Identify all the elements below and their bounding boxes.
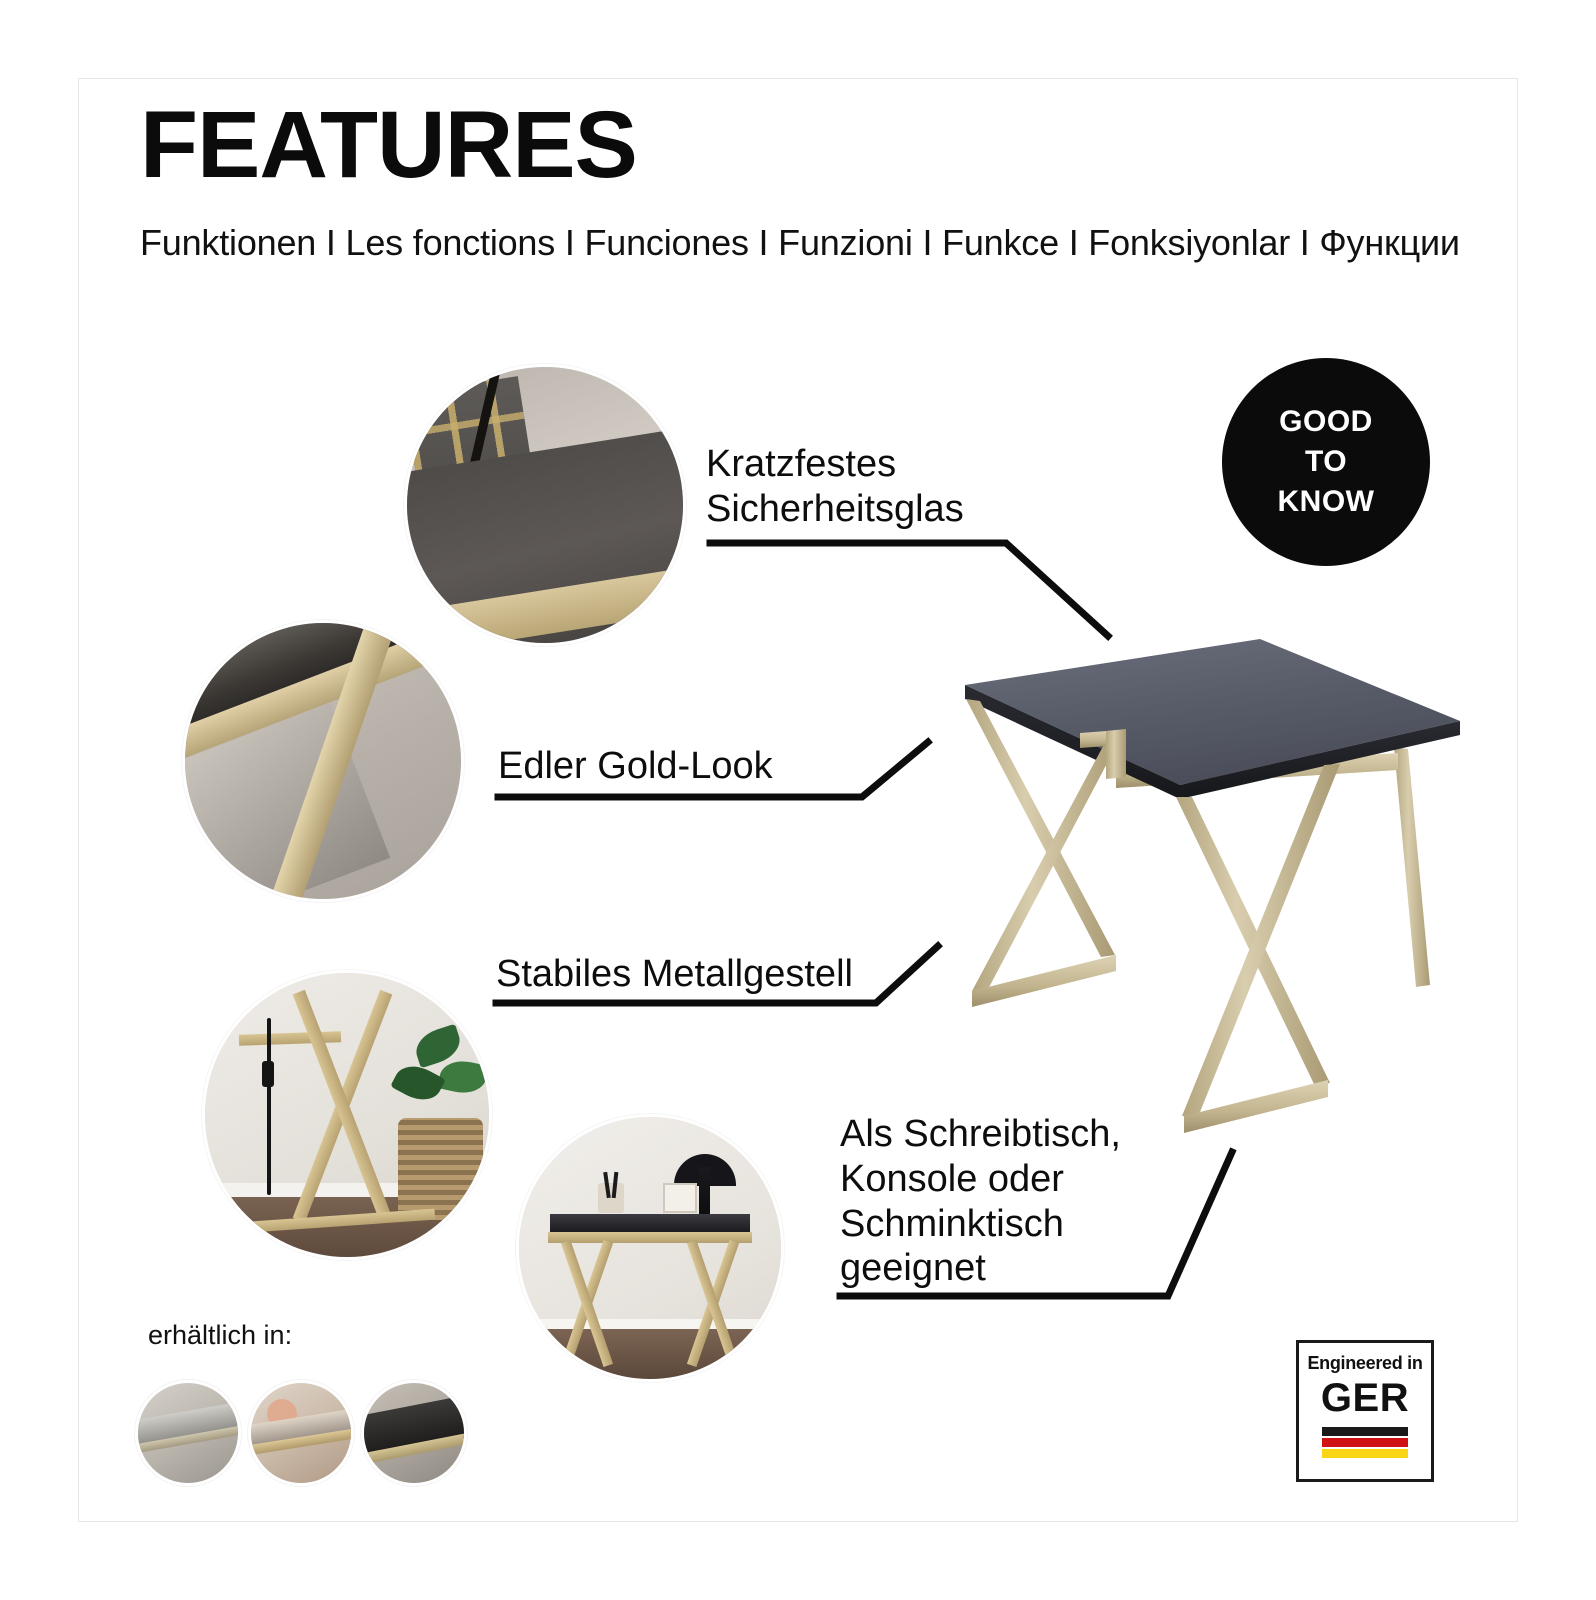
callout-metal-line-1: Stabiles Metallgestell (496, 952, 853, 997)
german-flag-icon (1322, 1427, 1408, 1458)
callout-usage-line-4: geeignet (840, 1246, 1121, 1291)
page-subtitle-multilingual: Funktionen I Les fonctions I Funciones I… (140, 222, 1460, 264)
desk-leg-front-left (966, 699, 1122, 1007)
callout-scratch-resistant-glass: Kratzfestes Sicherheitsglas (706, 442, 964, 532)
callout-gold-look: Edler Gold-Look (498, 744, 773, 789)
photo-gold-frame-detail (182, 620, 464, 902)
product-illustration-desk (930, 625, 1470, 1165)
photo-room-scene (519, 1117, 781, 1379)
photo-room-picture-frame (663, 1183, 697, 1213)
desk-glass-top (965, 639, 1460, 799)
desk-leg-front-right (1176, 764, 1340, 1133)
infographic-canvas: FEATURES Funktionen I Les fonctions I Fu… (0, 0, 1596, 1600)
photo-xleg-power-cord (267, 1018, 271, 1194)
good-to-know-line-1: GOOD (1279, 407, 1373, 437)
leader-line-glass (710, 543, 1108, 636)
callout-stable-metal-frame: Stabiles Metallgestell (496, 952, 853, 997)
color-swatch-clear-glass[interactable] (135, 1380, 241, 1486)
photo-glass-scene (407, 367, 683, 643)
engineered-country-text: GER (1321, 1378, 1409, 1418)
flag-stripe-gold (1322, 1449, 1408, 1458)
photo-gold-scene (185, 623, 461, 899)
flag-stripe-black (1322, 1427, 1408, 1436)
photo-xleg-scene (205, 973, 489, 1257)
callout-glass-line-1: Kratzfestes (706, 442, 964, 487)
color-swatch-bronze-glass[interactable] (248, 1380, 354, 1486)
engineered-in-text: Engineered in (1307, 1354, 1422, 1372)
callout-glass-line-2: Sicherheitsglas (706, 487, 964, 532)
page-title: FEATURES (140, 98, 637, 193)
photo-scratch-resistant-glass (404, 364, 686, 646)
photo-x-metal-frame (202, 970, 492, 1260)
callout-usage-line-3: Schminktisch (840, 1202, 1121, 1247)
good-to-know-line-2: TO (1305, 447, 1347, 477)
available-in-label: erhältlich in: (148, 1320, 292, 1351)
photo-room-skirting-board (519, 1319, 781, 1329)
flag-stripe-red (1322, 1438, 1408, 1447)
callout-gold-line-1: Edler Gold-Look (498, 744, 773, 789)
engineered-in-germany-badge: Engineered in GER (1296, 1340, 1434, 1482)
good-to-know-badge: GOOD TO KNOW (1222, 358, 1430, 566)
desk-center-bracket (1106, 729, 1126, 779)
photo-xleg-cord-switch (262, 1061, 274, 1087)
photo-room-floor (519, 1327, 781, 1379)
desk-leg-back-right (1394, 747, 1430, 987)
photo-desk-in-room (516, 1114, 784, 1382)
photo-room-desk-gold-apron (548, 1232, 752, 1242)
good-to-know-line-3: KNOW (1278, 487, 1375, 517)
color-swatch-black-glass[interactable] (361, 1380, 467, 1486)
photo-xleg-basket (398, 1118, 483, 1220)
